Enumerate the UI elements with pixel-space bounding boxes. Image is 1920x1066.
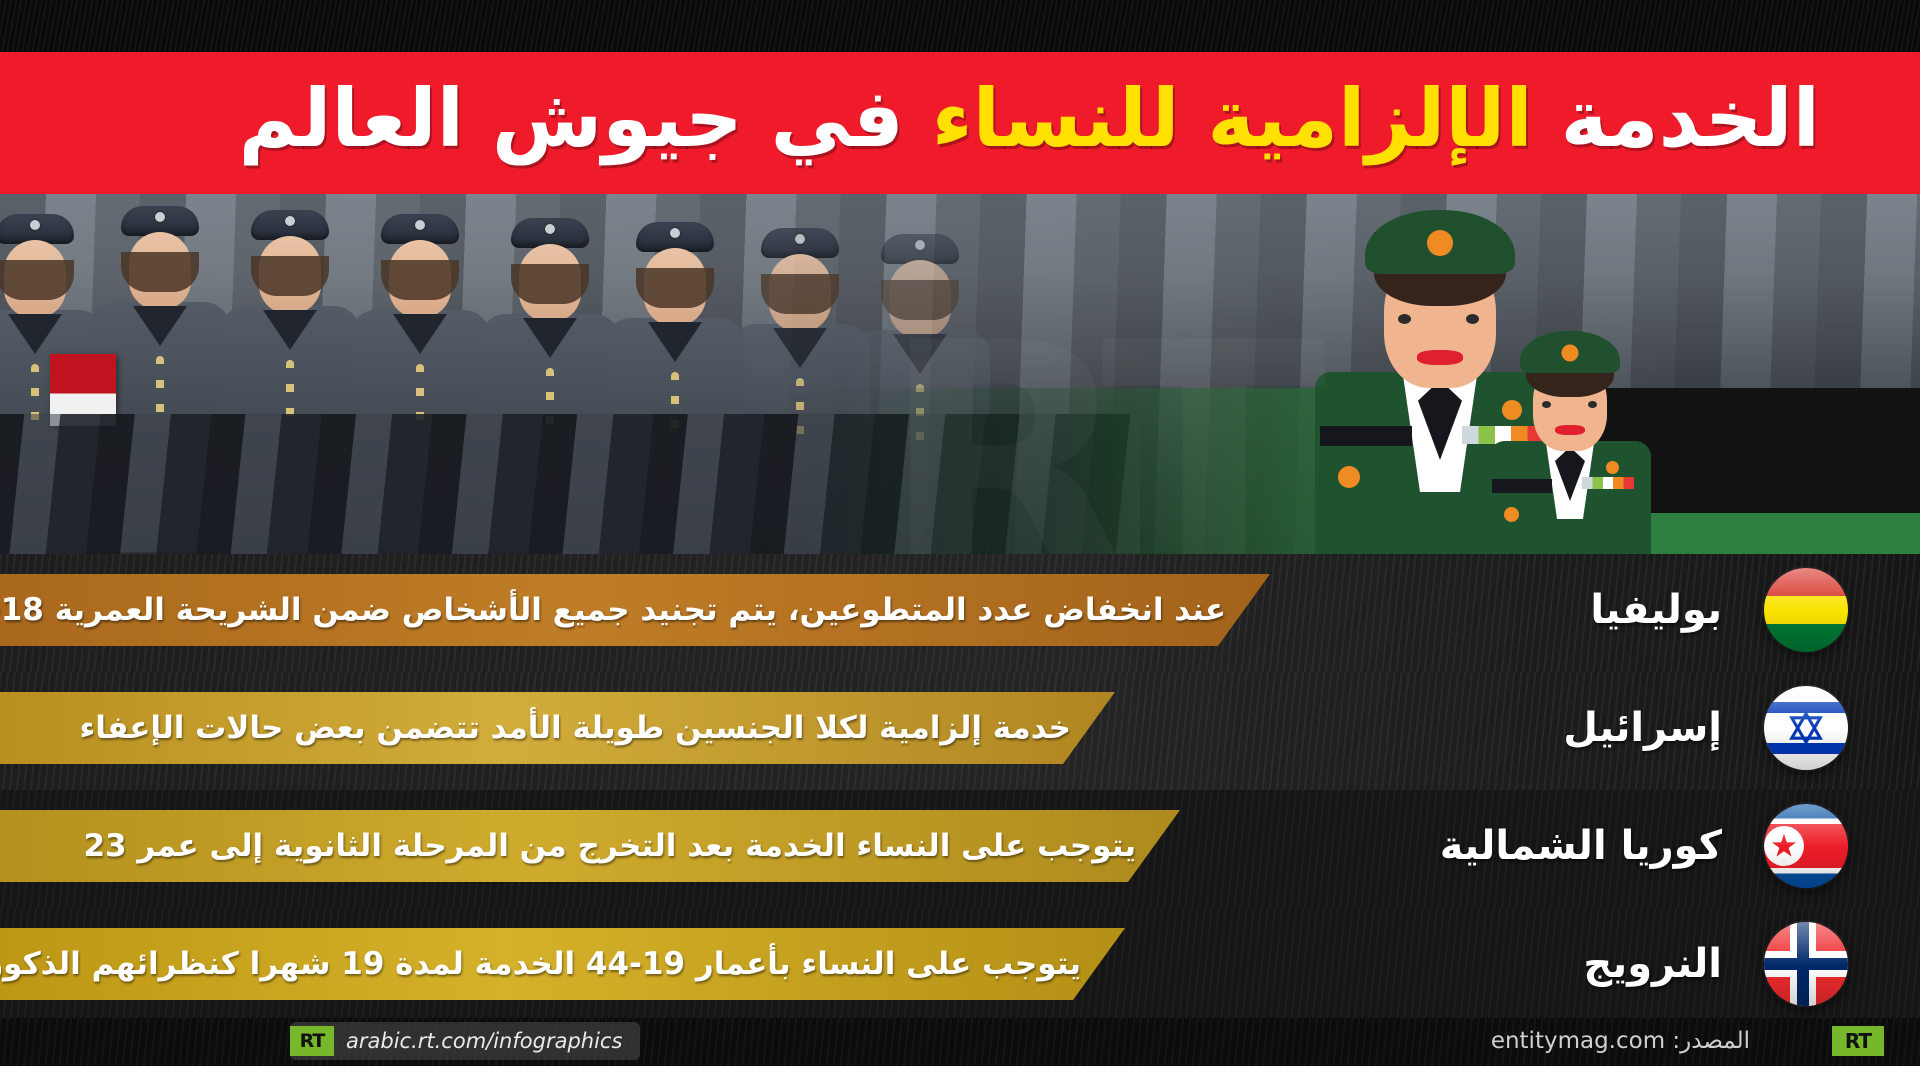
infographic-root: الخدمة الإلزامية للنساء في جيوش العالم [0,0,1920,1066]
table-row[interactable]: خدمة إلزامية لكلا الجنسين طويلة الأمد تت… [0,672,1920,790]
country-name: إسرائيل [1563,705,1722,751]
site-url[interactable]: arabic.rt.com/infographics [346,1029,622,1053]
israel-flag-icon [1764,686,1848,770]
footer-bar: RT arabic.rt.com/infographics المصدر: en… [0,1018,1920,1066]
rt-url-pill[interactable]: RT arabic.rt.com/infographics [290,1022,640,1060]
north-korea-flag-icon [1764,804,1848,888]
title-part-yellow: الإلزامية للنساء [932,72,1533,165]
country-label-wrap: كوريا الشمالية [1440,808,1722,884]
description-text: يتوجب على النساء بأعمار 19-44 الخدمة لمد… [32,946,1081,982]
country-rows: عند انخفاض عدد المتطوعين، يتم تجنيد جميع… [0,554,1920,1024]
title-part-white-2: في جيوش العالم [239,72,904,165]
soldier-illustration-small [1470,329,1670,554]
country-name: بوليفيا [1590,587,1722,633]
page-title: الخدمة الإلزامية للنساء في جيوش العالم [239,79,1820,159]
rt-logo-right-icon: RT [1832,1026,1884,1056]
description-banner: يتوجب على النساء الخدمة بعد التخرج من ال… [0,810,1180,882]
rt-logo-icon: RT [290,1026,334,1056]
country-name: كوريا الشمالية [1440,823,1722,869]
top-strip [0,0,1920,52]
country-label-wrap: النرويج [1583,926,1722,1002]
description-banner: يتوجب على النساء بأعمار 19-44 الخدمة لمد… [0,928,1125,1000]
description-text: خدمة إلزامية لكلا الجنسين طويلة الأمد تت… [32,710,1071,746]
table-row[interactable]: عند انخفاض عدد المتطوعين، يتم تجنيد جميع… [0,554,1920,672]
table-row[interactable]: يتوجب على النساء بأعمار 19-44 الخدمة لمد… [0,908,1920,1026]
country-label-wrap: بوليفيا [1590,572,1722,648]
description-banner: خدمة إلزامية لكلا الجنسين طويلة الأمد تت… [0,692,1115,764]
source-label: المصدر: entitymag.com [1491,1028,1750,1054]
country-name: النرويج [1583,941,1722,987]
title-band: الخدمة الإلزامية للنساء في جيوش العالم [0,52,1920,194]
title-part-white-1: الخدمة [1561,72,1820,165]
description-text: عند انخفاض عدد المتطوعين، يتم تجنيد جميع… [32,592,1226,628]
hero-photo-band [0,194,1920,554]
bolivia-flag-icon [1764,568,1848,652]
norway-flag-icon [1764,922,1848,1006]
country-label-wrap: إسرائيل [1563,690,1722,766]
description-text: يتوجب على النساء الخدمة بعد التخرج من ال… [32,828,1136,864]
table-row[interactable]: يتوجب على النساء الخدمة بعد التخرج من ال… [0,790,1920,908]
description-banner: عند انخفاض عدد المتطوعين، يتم تجنيد جميع… [0,574,1270,646]
